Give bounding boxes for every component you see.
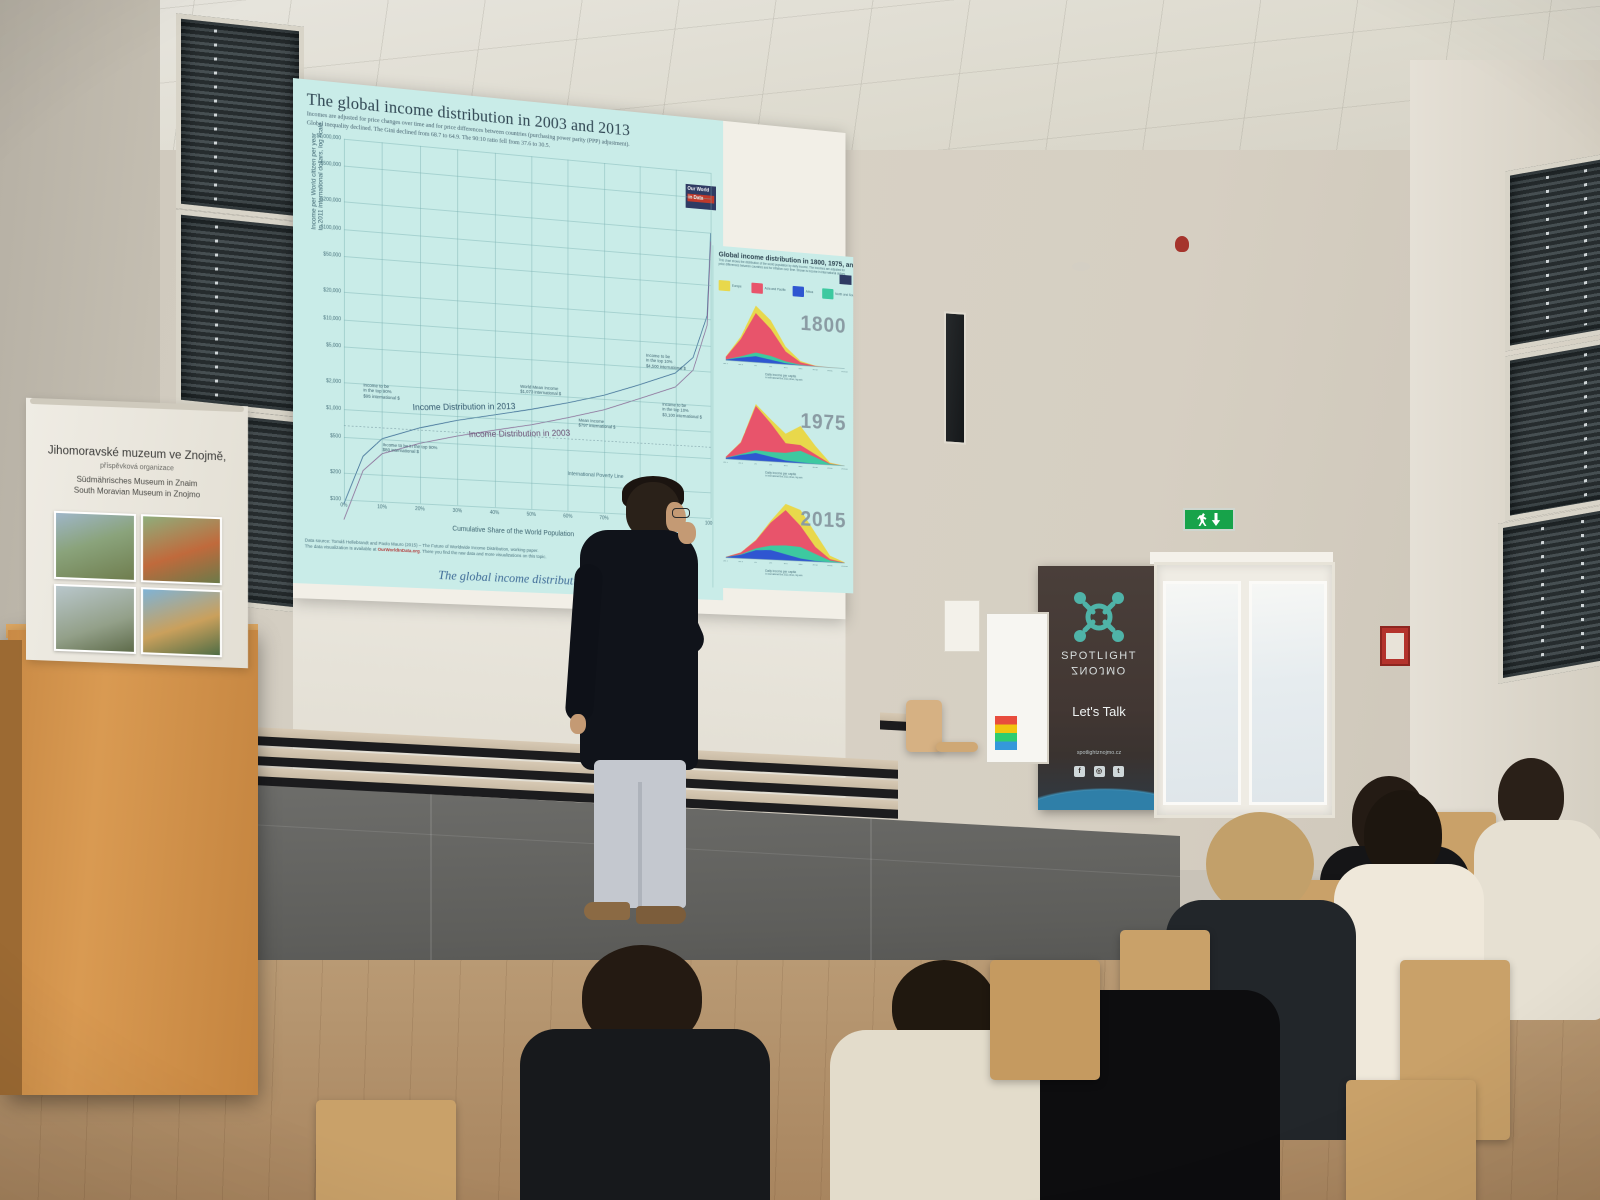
glass-double-door[interactable] — [1154, 562, 1335, 818]
audience-chair[interactable] — [1346, 1080, 1476, 1200]
blind-cord — [215, 226, 218, 397]
spotlight-logo-icon — [1069, 588, 1129, 646]
density-panel-1800: $0.1$0.3$1$3$10$30$100$300$1000 1800 Dai… — [717, 297, 850, 401]
lectern — [8, 630, 258, 1095]
panel-year-1975: 1975 — [801, 409, 847, 436]
presenter-hand-to-chin — [678, 522, 696, 544]
gridline-vertical — [711, 173, 712, 518]
fire-sprinkler-icon — [1175, 236, 1189, 252]
density-x-tick: $10 — [784, 366, 788, 370]
x-axis-tick: 40% — [490, 510, 499, 516]
legend-swatch-americas — [822, 288, 833, 299]
wall-speaker — [944, 311, 966, 445]
museum-banner-translations: Südmährisches Museum in Znaim South Mora… — [26, 472, 248, 503]
blind-cord — [214, 30, 217, 201]
audience-chair[interactable] — [316, 1100, 456, 1200]
blind-cord — [1546, 175, 1549, 332]
density-x-tick: $3 — [769, 365, 772, 369]
window-right-middle — [1505, 334, 1600, 522]
presenter-left-hand — [570, 714, 586, 734]
x-axis-tick: 0% — [340, 502, 347, 508]
source-link: OurWorldInData.org — [378, 547, 420, 554]
window-blind — [181, 215, 301, 413]
density-x-tick: $0.1 — [724, 559, 729, 563]
gridline-vertical — [640, 166, 641, 514]
presenter-jeans — [594, 760, 686, 908]
blind-cord — [1581, 520, 1584, 659]
x-axis-tick: 30% — [453, 508, 462, 514]
density-x-tick: $0.3 — [739, 462, 744, 466]
y-axis-tick: $500 — [330, 433, 341, 440]
blind-cord — [1541, 527, 1544, 666]
lectern-side-panel — [0, 640, 22, 1095]
legend-label-americas: North and South America — [835, 292, 853, 298]
axis-sublabel-text: in international-$ at 2011 prices, log a… — [765, 474, 802, 479]
density-x-tick: $1000 — [842, 468, 849, 470]
density-x-tick: $1 — [755, 364, 758, 368]
y-axis-tick: $20,000 — [323, 287, 341, 294]
density-x-tick: $0.3 — [739, 363, 744, 367]
window-right-top — [1505, 149, 1600, 352]
gridline-vertical — [531, 156, 532, 509]
spotlight-wordmark: SPOTLIGHT ZNOJMO — [1038, 650, 1160, 676]
window-left-top — [176, 13, 304, 221]
density-x-tick: $30 — [799, 367, 803, 371]
density-x-tick: $0.1 — [724, 362, 729, 366]
annotation-top10-2003: Income to be in the top 10% $3,100 inter… — [662, 402, 702, 420]
x-axis-tick: 50% — [527, 512, 536, 518]
presenter — [540, 478, 710, 928]
y-axis-tick: $1,000 — [326, 405, 341, 412]
y-axis-tick: $5,000 — [326, 342, 341, 349]
panel-axis-label-1975: Daily income per capita in international… — [765, 471, 802, 480]
spotlight-tagline: Let's Talk — [1038, 704, 1160, 719]
fire-alarm-call-point[interactable] — [1380, 626, 1410, 666]
legend-swatch-africa — [793, 286, 804, 297]
panel-year-2015: 2015 — [801, 507, 847, 534]
door-pane-right — [1249, 581, 1327, 805]
density-x-tick: $10 — [784, 562, 788, 566]
density-x-tick: $1 — [755, 561, 758, 565]
emergency-exit-sign — [1183, 508, 1235, 531]
banner-photo-castle — [141, 514, 223, 585]
slide-global-income-1800-1975-2015: Global income distribution in 1800, 1975… — [712, 245, 853, 593]
series-label-2013: Income Distribution in 2013 — [412, 401, 516, 412]
smoke-detector-icon — [1072, 262, 1090, 271]
density-x-tick: $1 — [755, 463, 758, 467]
spotlight-znojmo-banner: SPOTLIGHT ZNOJMO Let's Talk spotlightzno… — [1038, 566, 1160, 810]
legend-label-asia-pacific: Asia and Pacific — [765, 286, 786, 291]
window-right-bottom — [1498, 500, 1600, 684]
axis-sublabel-text: in international-$ at 2011 prices, log a… — [765, 376, 802, 381]
density-x-tick: $100 — [813, 368, 818, 372]
density-x-tick: $3 — [769, 562, 772, 566]
x-axis-tick: 10% — [377, 504, 387, 510]
spotlight-name-bottom: ZNOJMO — [1038, 663, 1160, 676]
density-x-tick: $3 — [769, 463, 772, 467]
lecture-hall-photo: The global income distribution in 2003 a… — [0, 0, 1600, 1200]
panel-year-1800: 1800 — [801, 311, 847, 339]
gridline-vertical — [604, 163, 605, 513]
density-x-tick: $0.3 — [739, 560, 744, 564]
color-chart-icon — [995, 716, 1017, 750]
museum-banner: Jihomoravské muzeum ve Znojmě, příspěvko… — [26, 398, 248, 669]
legend-swatch-europe — [719, 280, 731, 291]
density-panel-2015: $0.1$0.3$1$3$10$30$100$300$1000 2015 Dai… — [717, 495, 850, 594]
stage-chair-seat[interactable] — [936, 742, 978, 752]
density-x-tick: $10 — [784, 464, 788, 468]
gridline-vertical — [344, 139, 345, 500]
panel-axis-label-2015: Daily income per capita in international… — [765, 569, 802, 577]
y-axis-tick: $2,000 — [326, 378, 341, 385]
door-pane-left — [1163, 581, 1241, 805]
banner-photo-church — [141, 587, 223, 658]
gridline-vertical — [568, 160, 569, 511]
audience-member — [548, 945, 748, 1200]
audience-chair[interactable] — [990, 960, 1100, 1080]
density-x-tick: $1000 — [842, 370, 849, 372]
window-left-middle — [176, 209, 306, 418]
legend-swatch-asia-pacific — [751, 283, 762, 294]
museum-photo-grid — [54, 511, 222, 657]
down-arrow-icon — [1211, 513, 1221, 526]
annotation-mean-income: Mean Income $797 international $ — [579, 418, 616, 431]
presenter-shoe-left — [584, 902, 630, 920]
density-x-tick: $0.1 — [724, 461, 729, 465]
density-panel-1975: $0.1$0.3$1$3$10$30$100$300$1000 1975 Dai… — [717, 396, 850, 498]
axis-sublabel-text: in international-$ at 2011 prices, log a… — [765, 573, 802, 577]
annotation-top10-2013: Income to be in the top 10% $4,500 inter… — [646, 353, 686, 371]
audience-jacket — [520, 1029, 770, 1200]
income-curves-svg — [344, 139, 711, 518]
density-x-tick: $300 — [827, 467, 832, 470]
density-x-tick: $30 — [799, 465, 803, 469]
density-x-tick: $1000 — [842, 565, 849, 567]
presenter-glasses — [672, 508, 690, 518]
legend-label-europe: Europe — [732, 284, 742, 289]
running-man-icon — [1197, 513, 1208, 526]
flipchart-board — [985, 612, 1049, 764]
density-x-tick: $100 — [813, 466, 818, 470]
density-x-tick: $30 — [799, 563, 803, 567]
density-x-tick: $300 — [827, 369, 832, 372]
density-x-tick: $100 — [813, 564, 818, 568]
gridline-vertical — [675, 170, 676, 517]
annotation-top90-2013: Income to be in the top 90% $95 internat… — [363, 383, 399, 401]
window-blind — [181, 19, 299, 216]
banner-photo-excavation — [54, 583, 136, 654]
wall-poster — [944, 600, 980, 652]
presenter-shoe-right — [636, 906, 686, 924]
y-axis-tick: $100 — [330, 496, 341, 503]
spotlight-name-top: SPOTLIGHT — [1061, 650, 1137, 662]
gridline-vertical — [457, 149, 458, 505]
y-axis-tick: $10,000 — [323, 315, 341, 322]
y-axis-tick: $200 — [330, 469, 341, 476]
y-axis-tick: $50,000 — [323, 251, 341, 258]
legend-label-africa: Africa — [806, 290, 814, 294]
density-x-tick: $300 — [827, 564, 832, 567]
chart-plot-area: $1,000,000$500,000$200,000$100,000$50,00… — [344, 139, 711, 518]
window-blind — [1503, 506, 1600, 678]
banner-photo-rotunda — [54, 511, 136, 582]
x-axis-tick: 20% — [415, 506, 425, 512]
gridline-vertical — [495, 153, 496, 507]
panel-axis-label-1800: Daily income per capita in international… — [765, 372, 802, 381]
blind-cord — [1584, 169, 1587, 326]
presenter-coat — [580, 530, 698, 770]
series-label-2003: Income Distribution in 2003 — [468, 428, 570, 439]
blind-cord — [1584, 353, 1587, 496]
banner-wave-graphic — [1038, 750, 1160, 810]
